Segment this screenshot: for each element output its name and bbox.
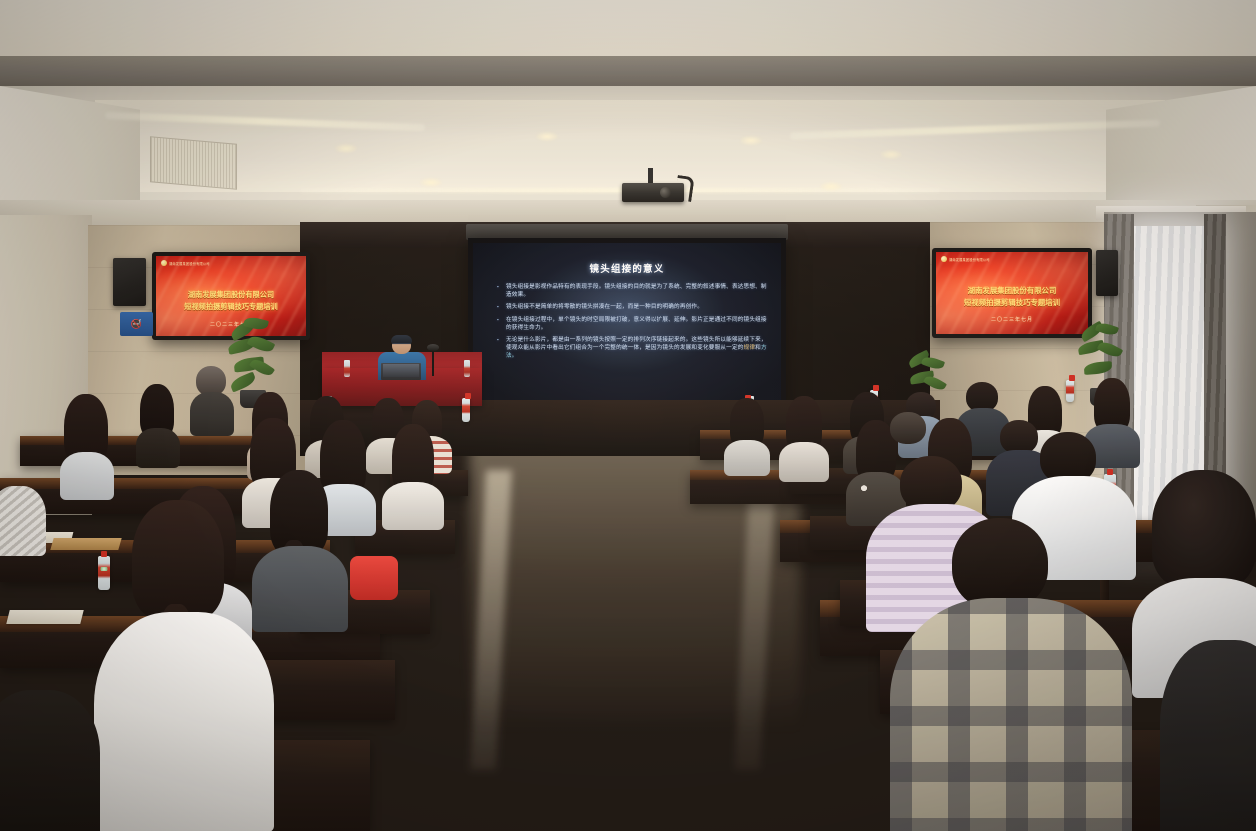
plant-leaf [921, 355, 945, 372]
stage-water-bottle-left [344, 360, 350, 377]
plant-leaf [1097, 339, 1123, 360]
slide-bullet-4: 无论是什么影片，都是由一系列的镜头按照一定的排列次序链接起来的。这些镜头所以能够… [497, 336, 767, 361]
attendee-torso [0, 690, 100, 831]
left-tv-logo-text: 湖南发展集团股份有限公司 [169, 261, 210, 266]
slide-bullet-3: 在镜头组接过程中，单个镜头的时空局限被打破，意义得以扩展、延伸。影片正是通过不同… [497, 316, 767, 332]
plant-leaf [1084, 361, 1113, 375]
right-tv-line1: 湖南发展集团股份有限公司 [936, 285, 1088, 296]
bottle-label [99, 567, 109, 571]
attendee-torso [252, 546, 348, 632]
slide-bullet-list: 镜头组接是影视作品特有的表现手段。镜头组接的目的就是为了系统、完整的叙述事情、表… [497, 283, 767, 365]
no-smoking-icon: 🚭 [131, 319, 142, 330]
attendee-head [952, 518, 1048, 610]
right-tv-logo-text: 湖南发展集团股份有限公司 [949, 257, 990, 262]
ceiling-beam [0, 56, 1256, 88]
right-wall-tv: 湖南发展集团股份有限公司 湖南发展集团股份有限公司 短视频拍摄剪辑技巧专题培训 … [932, 248, 1092, 338]
water-bottle [1066, 380, 1074, 402]
projector-mount [648, 168, 653, 184]
right-tv-line2: 短视频拍摄剪辑技巧专题培训 [936, 297, 1088, 308]
attendee-torso [1160, 640, 1256, 831]
downlight-2 [536, 132, 558, 141]
right-wall-speaker [1096, 250, 1118, 296]
left-tv-line2: 短视频拍摄剪辑技巧专题培训 [156, 302, 306, 312]
attendee-torso [382, 482, 444, 530]
attendee-torso [890, 598, 1132, 831]
ceiling-recess [95, 100, 1165, 192]
attendee-hair [132, 500, 224, 620]
attendee-hair [1152, 470, 1256, 588]
air-vent [150, 136, 237, 190]
plant-leaf [247, 333, 276, 355]
microphone-stand [432, 350, 434, 376]
downlight-4 [880, 150, 902, 159]
left-wall-speaker [113, 258, 146, 306]
slide-bullet-2: 镜头组接不是简单的将零散的镜头拼凑在一起，而是一种目的明确的再创作。 [497, 303, 767, 311]
cove-light-strip-center [300, 188, 940, 193]
projector-lens-icon [660, 187, 671, 198]
company-logo-icon [161, 260, 167, 266]
attendee-head [1000, 420, 1038, 454]
projection-screen: 镜头组接的意义 镜头组接是影视作品特有的表现手段。镜头组接的目的就是为了系统、完… [473, 243, 781, 407]
slide-highlight-1: 规律 [744, 345, 756, 351]
attendee-torso [724, 440, 770, 476]
attendee-torso [779, 442, 829, 482]
plant-leaf [1095, 321, 1119, 337]
no-smoking-sign: 🚭 [120, 312, 153, 336]
downlight-6 [820, 182, 842, 191]
downlight-3 [740, 136, 762, 145]
notebook [6, 610, 83, 624]
slide-title: 镜头组接的意义 [473, 261, 781, 275]
right-tv-date: 二〇二三年七月 [936, 316, 1088, 323]
right-tv-screen: 湖南发展集团股份有限公司 湖南发展集团股份有限公司 短视频拍摄剪辑技巧专题培训 … [936, 252, 1088, 334]
projector-cable [674, 175, 694, 202]
stage-water-bottle-right [464, 360, 470, 377]
attendee-bag [350, 556, 398, 600]
plant-leaf [923, 373, 947, 393]
water-bottle [462, 398, 470, 422]
slide-bullet-1: 镜头组接是影视作品特有的表现手段。镜头组接的目的就是为了系统、完整的叙述事情、表… [497, 283, 767, 299]
presenter-cap [391, 335, 412, 343]
attendee-torso [0, 486, 46, 556]
attendee-torso [136, 428, 180, 468]
attendee-head [890, 412, 926, 444]
attendee-torso [60, 452, 114, 500]
conference-room-photo: 镜头组接的意义 镜头组接是影视作品特有的表现手段。镜头组接的目的就是为了系统、完… [0, 0, 1256, 831]
left-tv-logo: 湖南发展集团股份有限公司 [161, 260, 210, 266]
downlight-5 [420, 178, 442, 187]
slide-bullet-4-text: 无论是什么影片，都是由一系列的镜头按照一定的排列次序链接起来的。这些镜头所以能够… [506, 337, 767, 351]
attendee-torso [94, 612, 274, 831]
folder [50, 538, 121, 550]
water-bottle [98, 556, 110, 590]
attendee-torso [190, 392, 234, 436]
right-tv-logo: 湖南发展集团股份有限公司 [941, 256, 990, 262]
ceiling-upper-slab [0, 0, 1256, 60]
microphone-icon [427, 344, 439, 351]
downlight-1 [335, 144, 357, 153]
left-tv-line1: 湖南发展集团股份有限公司 [156, 290, 306, 300]
presenter-laptop-screen [383, 364, 419, 377]
company-logo-icon-right [941, 256, 947, 262]
